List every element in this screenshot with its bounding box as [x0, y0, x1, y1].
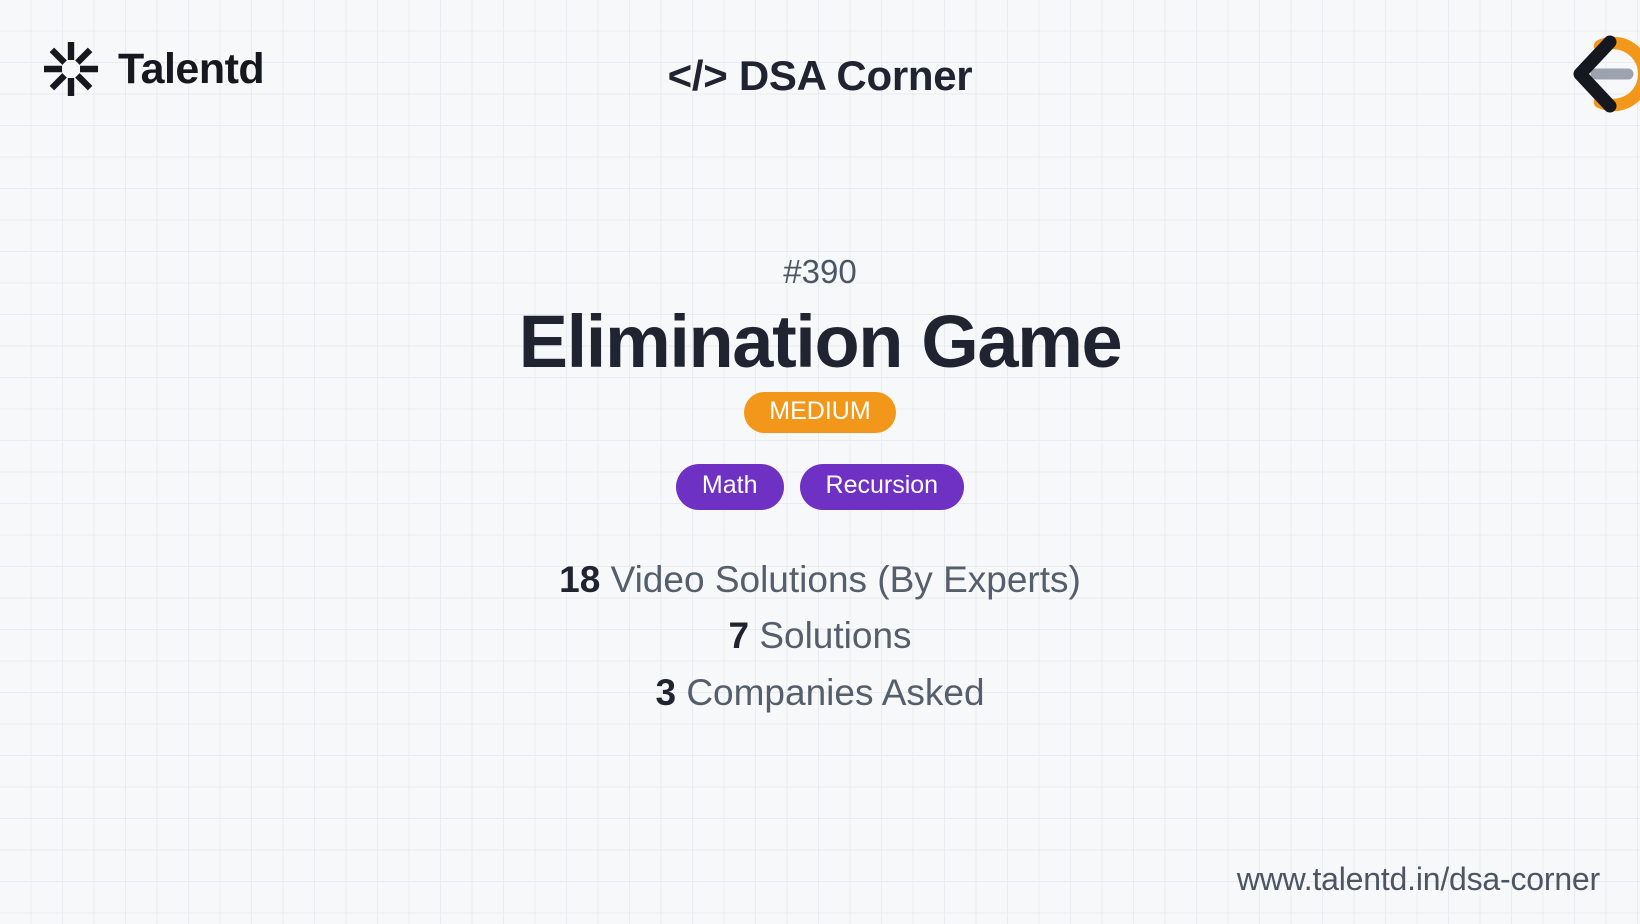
problem-number: #390	[783, 252, 856, 292]
stats-list: 18 Video Solutions (By Experts) 7 Soluti…	[559, 558, 1081, 715]
stat-solutions: 7 Solutions	[728, 614, 911, 658]
stat-companies-asked-label: Companies Asked	[686, 672, 984, 713]
difficulty-badge: MEDIUM	[744, 392, 895, 434]
stat-video-solutions: 18 Video Solutions (By Experts)	[559, 558, 1081, 602]
stat-video-solutions-value: 18	[559, 559, 600, 600]
stat-solutions-label: Solutions	[759, 615, 911, 656]
footer-url[interactable]: www.talentd.in/dsa-corner	[1237, 861, 1600, 898]
stat-companies-asked: 3 Companies Asked	[655, 671, 984, 715]
stat-solutions-value: 7	[728, 615, 749, 656]
stat-video-solutions-label: Video Solutions (By Experts)	[611, 559, 1081, 600]
tag-pill-recursion[interactable]: Recursion	[800, 464, 965, 510]
problem-title: Elimination Game	[519, 302, 1122, 382]
tag-list: Math Recursion	[676, 464, 964, 510]
tag-pill-math[interactable]: Math	[676, 464, 784, 510]
stat-companies-asked-value: 3	[655, 672, 676, 713]
main-content: #390 Elimination Game MEDIUM Math Recurs…	[0, 0, 1640, 924]
